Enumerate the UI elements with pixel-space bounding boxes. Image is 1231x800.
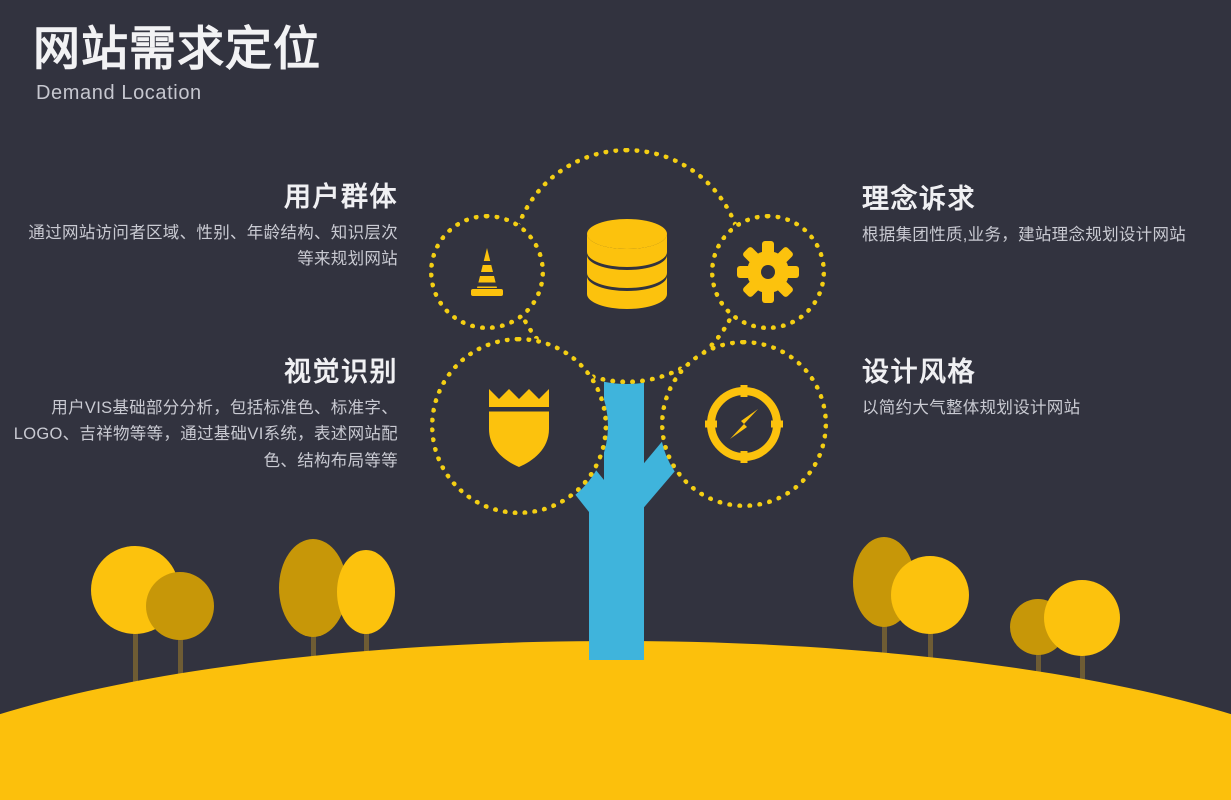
bubble-gear[interactable]: [710, 214, 826, 330]
callout-body-design-style: 以简约大气整体规划设计网站: [862, 395, 1212, 422]
callout-body-user-group: 通过网站访问者区域、性别、年龄结构、知识层次等来规划网站: [28, 220, 398, 273]
gear-icon: [737, 241, 799, 303]
callout-heading-design-style: 设计风格: [862, 358, 1212, 388]
page-subtitle: Demand Location: [36, 82, 321, 105]
callout-heading-concept-appeal: 理念诉求: [862, 185, 1210, 215]
compass-icon: [703, 383, 785, 465]
callout-concept-appeal: 理念诉求 根据集团性质,业务，建站理念规划设计网站: [862, 185, 1210, 248]
callout-user-group: 用户群体 通过网站访问者区域、性别、年龄结构、知识层次等来规划网站: [28, 183, 398, 273]
callout-body-visual-identity: 用户VIS基础部分分析，包括标准色、标准字、LOGO、吉祥物等等，通过基础VI系…: [8, 395, 398, 475]
callout-heading-visual-identity: 视觉识别: [8, 358, 398, 388]
bubble-traffic-cone[interactable]: [429, 214, 545, 330]
traffic-cone-icon: [459, 244, 515, 300]
bubble-shield[interactable]: [430, 337, 608, 515]
page-title: 网站需求定位: [33, 22, 321, 76]
callout-heading-user-group: 用户群体: [28, 183, 398, 213]
bubble-compass[interactable]: [660, 340, 828, 508]
slide-canvas: 网站需求定位 Demand Location: [0, 0, 1231, 800]
database-icon: [571, 210, 683, 322]
shield-crown-icon: [481, 383, 557, 469]
callout-design-style: 设计风格 以简约大气整体规划设计网站: [862, 358, 1212, 421]
callout-visual-identity: 视觉识别 用户VIS基础部分分析，包括标准色、标准字、LOGO、吉祥物等等，通过…: [8, 358, 398, 475]
callout-body-concept-appeal: 根据集团性质,业务，建站理念规划设计网站: [862, 222, 1210, 249]
title-block: 网站需求定位 Demand Location: [33, 22, 321, 105]
